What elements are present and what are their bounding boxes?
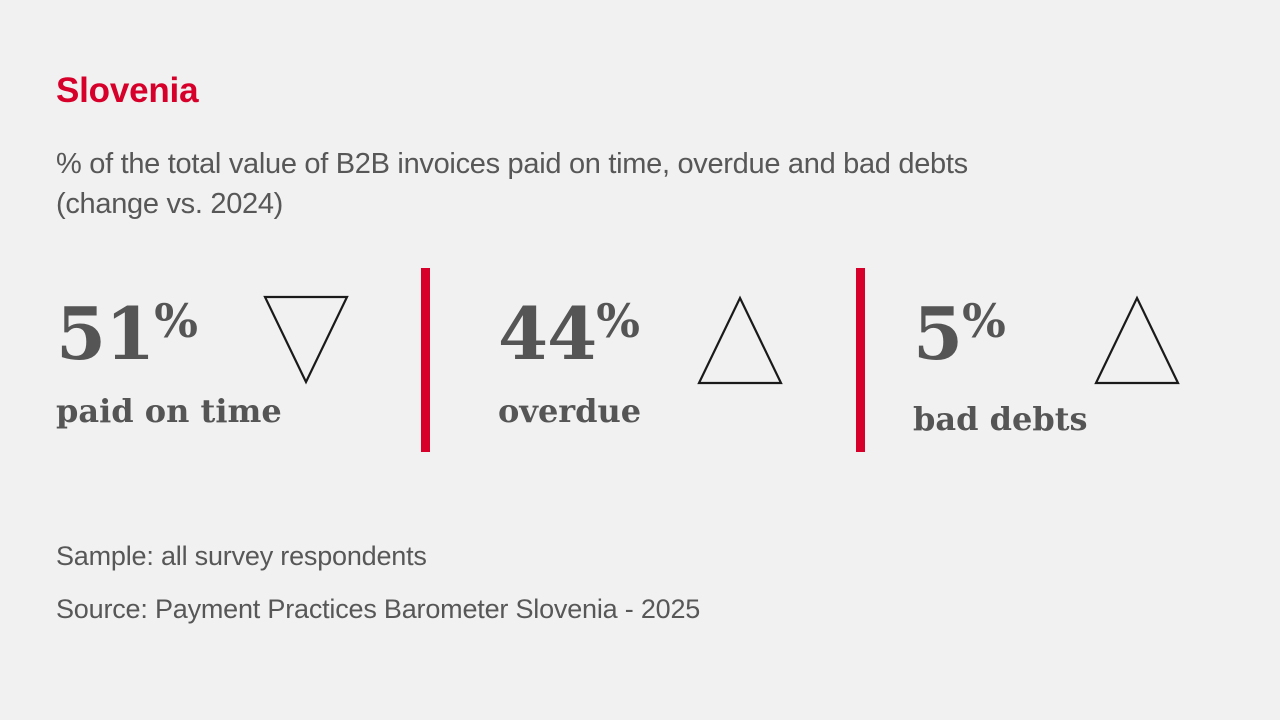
metric-bad-debts: 5% bad debts [913, 260, 1213, 460]
triangle-up-icon [696, 293, 784, 387]
divider-bar-2 [856, 268, 865, 452]
metric-overdue-percent-sign: % [596, 294, 639, 348]
metric-paid-on-time-value: 51% [56, 285, 197, 370]
metric-bad-debts-label: bad debts [913, 400, 1088, 438]
metric-paid-on-time-percent-sign: % [154, 294, 197, 348]
metric-bad-debts-top: 5% [913, 260, 1213, 390]
metric-overdue: 44% overdue [498, 260, 828, 460]
metric-bad-debts-percent-sign: % [962, 294, 1005, 348]
triangle-down-icon [262, 293, 350, 387]
divider-bar-1 [421, 268, 430, 452]
metric-paid-on-time: 51% paid on time [56, 260, 406, 460]
metrics-row: 51% paid on time 44% overdue [0, 260, 1280, 460]
metric-bad-debts-number: 5 [913, 291, 962, 376]
metric-paid-on-time-top: 51% [56, 260, 406, 390]
footer-source: Source: Payment Practices Barometer Slov… [56, 583, 700, 636]
metric-paid-on-time-label: paid on time [56, 392, 282, 430]
footer-notes: Sample: all survey respondents Source: P… [56, 530, 700, 636]
infographic-canvas: Slovenia % of the total value of B2B inv… [0, 0, 1280, 720]
subtitle-line-2: (change vs. 2024) [56, 184, 1216, 224]
metric-overdue-label: overdue [498, 392, 641, 430]
metric-overdue-value: 44% [498, 285, 639, 370]
metric-paid-on-time-number: 51 [56, 291, 154, 376]
triangle-up-icon [1093, 293, 1181, 387]
footer-sample: Sample: all survey respondents [56, 530, 700, 583]
metric-bad-debts-value: 5% [913, 285, 1005, 370]
metric-overdue-number: 44 [498, 291, 596, 376]
metric-overdue-top: 44% [498, 260, 828, 390]
page-title: Slovenia [56, 70, 198, 112]
page-subtitle: % of the total value of B2B invoices pai… [56, 144, 1216, 224]
subtitle-line-1: % of the total value of B2B invoices pai… [56, 144, 1216, 184]
